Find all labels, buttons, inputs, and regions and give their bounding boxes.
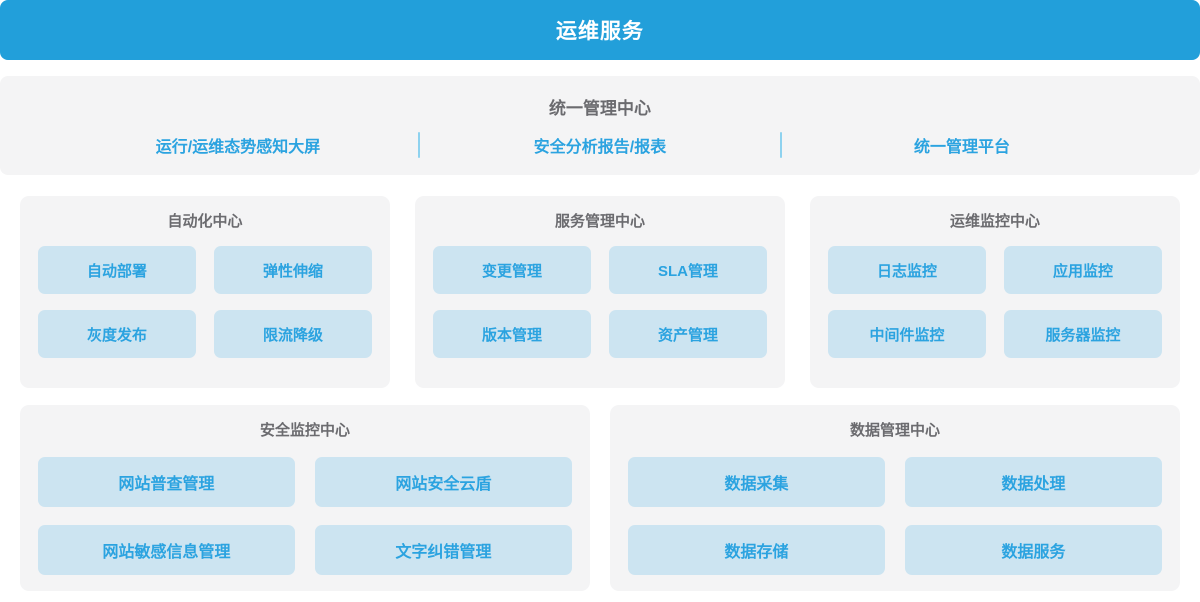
card-security-monitoring-center: 安全监控中心 网站普查管理 网站安全云盾 网站敏感信息管理 文字纠错管理 xyxy=(20,405,590,591)
card-item[interactable]: 数据采集 xyxy=(628,457,885,507)
card-item[interactable]: 限流降级 xyxy=(214,310,372,358)
card-title: 数据管理中心 xyxy=(628,419,1162,440)
management-center-title: 统一管理中心 xyxy=(0,76,1200,119)
management-link-platform[interactable]: 统一管理平台 xyxy=(782,133,1142,157)
card-item[interactable]: 灰度发布 xyxy=(38,310,196,358)
card-title: 运维监控中心 xyxy=(828,210,1162,231)
card-item[interactable]: 网站安全云盾 xyxy=(315,457,572,507)
card-item-grid: 自动部署 弹性伸缩 灰度发布 限流降级 xyxy=(38,246,372,358)
management-link-security-report[interactable]: 安全分析报告/报表 xyxy=(420,133,780,157)
card-row-top: 自动化中心 自动部署 弹性伸缩 灰度发布 限流降级 服务管理中心 变更管理 SL… xyxy=(20,196,1180,388)
card-item[interactable]: 弹性伸缩 xyxy=(214,246,372,294)
card-automation-center: 自动化中心 自动部署 弹性伸缩 灰度发布 限流降级 xyxy=(20,196,390,388)
card-item[interactable]: 数据存储 xyxy=(628,525,885,575)
card-service-management-center: 服务管理中心 变更管理 SLA管理 版本管理 资产管理 xyxy=(415,196,785,388)
management-link-dashboard[interactable]: 运行/运维态势感知大屏 xyxy=(58,133,418,157)
architecture-diagram: 运维服务 统一管理中心 运行/运维态势感知大屏 安全分析报告/报表 统一管理平台… xyxy=(0,0,1200,602)
card-item[interactable]: 数据处理 xyxy=(905,457,1162,507)
card-item[interactable]: 资产管理 xyxy=(609,310,767,358)
card-title: 服务管理中心 xyxy=(433,210,767,231)
card-item[interactable]: 服务器监控 xyxy=(1004,310,1162,358)
card-item[interactable]: 中间件监控 xyxy=(828,310,986,358)
card-title: 安全监控中心 xyxy=(38,419,572,440)
card-item[interactable]: 自动部署 xyxy=(38,246,196,294)
card-item-grid: 网站普查管理 网站安全云盾 网站敏感信息管理 文字纠错管理 xyxy=(38,457,572,575)
card-item[interactable]: 版本管理 xyxy=(433,310,591,358)
card-item[interactable]: 网站普查管理 xyxy=(38,457,295,507)
card-item[interactable]: 文字纠错管理 xyxy=(315,525,572,575)
card-item[interactable]: 应用监控 xyxy=(1004,246,1162,294)
card-item[interactable]: SLA管理 xyxy=(609,246,767,294)
card-item-grid: 日志监控 应用监控 中间件监控 服务器监控 xyxy=(828,246,1162,358)
card-item[interactable]: 日志监控 xyxy=(828,246,986,294)
card-row-bottom: 安全监控中心 网站普查管理 网站安全云盾 网站敏感信息管理 文字纠错管理 数据管… xyxy=(20,405,1180,591)
card-title: 自动化中心 xyxy=(38,210,372,231)
card-operations-monitoring-center: 运维监控中心 日志监控 应用监控 中间件监控 服务器监控 xyxy=(810,196,1180,388)
management-center-section: 统一管理中心 运行/运维态势感知大屏 安全分析报告/报表 统一管理平台 xyxy=(0,76,1200,175)
management-center-links: 运行/运维态势感知大屏 安全分析报告/报表 统一管理平台 xyxy=(0,132,1200,158)
page-title: 运维服务 xyxy=(556,15,644,45)
card-item-grid: 变更管理 SLA管理 版本管理 资产管理 xyxy=(433,246,767,358)
card-item[interactable]: 网站敏感信息管理 xyxy=(38,525,295,575)
card-item-grid: 数据采集 数据处理 数据存储 数据服务 xyxy=(628,457,1162,575)
page-header: 运维服务 xyxy=(0,0,1200,60)
card-item[interactable]: 变更管理 xyxy=(433,246,591,294)
card-data-management-center: 数据管理中心 数据采集 数据处理 数据存储 数据服务 xyxy=(610,405,1180,591)
card-item[interactable]: 数据服务 xyxy=(905,525,1162,575)
